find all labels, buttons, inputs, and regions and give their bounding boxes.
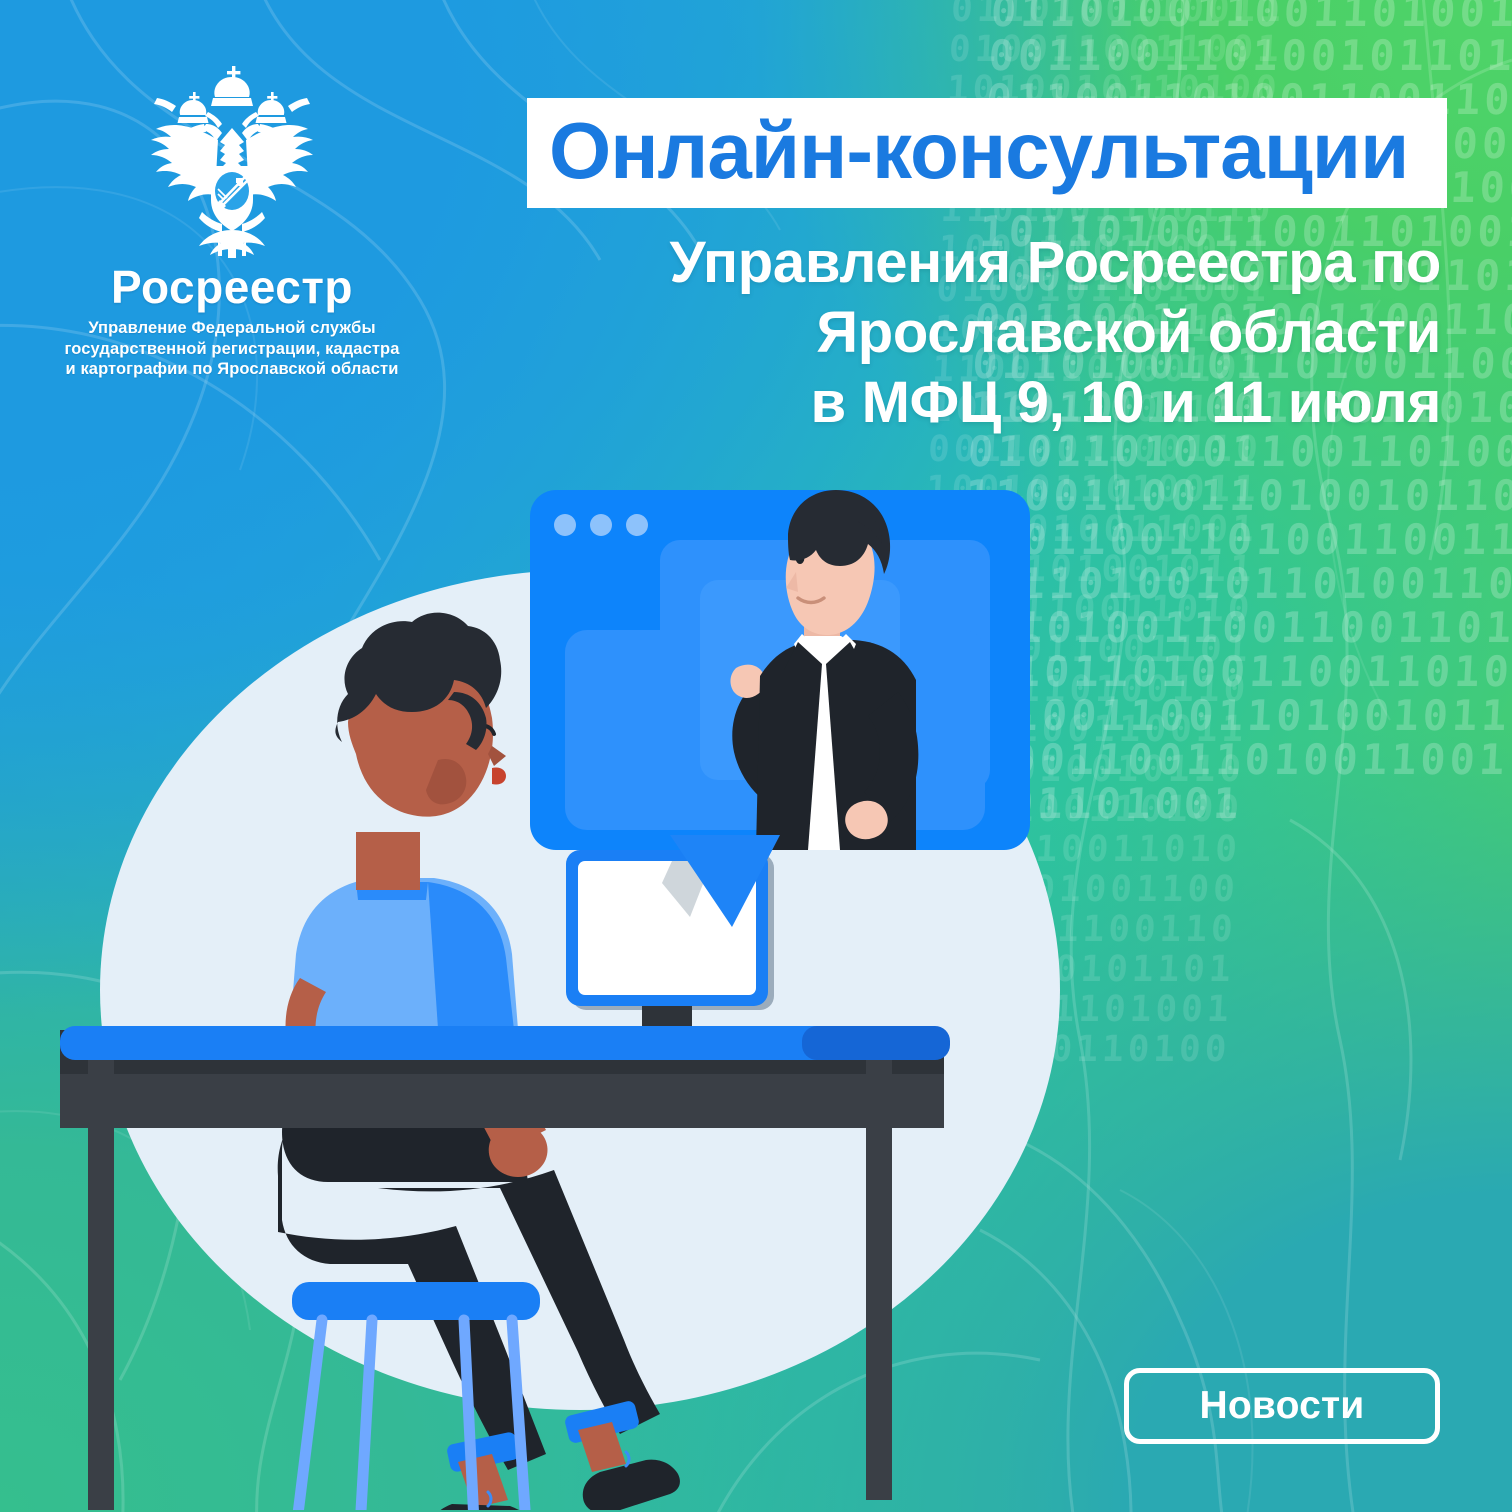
- russian-double-headed-eagle-emblem-icon: [62, 62, 402, 258]
- window-dot: [554, 514, 576, 536]
- poster-root: 0110100110011010011001100110100101101001…: [0, 0, 1512, 1512]
- news-button[interactable]: Новости: [1124, 1368, 1440, 1444]
- window-dot: [590, 514, 612, 536]
- logo-subtitle-line-3: и картографии по Ярославской области: [62, 359, 402, 380]
- headline-line-3: в МФЦ 9, 10 и 11 июля: [527, 368, 1441, 438]
- window-dot: [626, 514, 648, 536]
- headline-line-1: Управления Росреестра по: [527, 228, 1441, 298]
- logo-subtitle-line-1: Управление Федеральной службы: [62, 318, 402, 339]
- online-consultation-illustration: [60, 430, 1120, 1510]
- rosreestr-logo-block: Росреестр Управление Федеральной службы …: [62, 62, 402, 380]
- logo-subtitle-line-2: государственной регистрации, кадастра: [62, 339, 402, 360]
- logo-wordmark: Росреестр: [62, 262, 402, 312]
- headline-subtext: Управления Росреестра по Ярославской обл…: [527, 228, 1447, 438]
- headline-banner: Онлайн-консультации: [527, 98, 1447, 208]
- headline-line-2: Ярославской области: [527, 298, 1441, 368]
- logo-subtitle: Управление Федеральной службы государств…: [62, 318, 402, 380]
- headline-block: Онлайн-консультации Управления Росреестр…: [527, 98, 1447, 438]
